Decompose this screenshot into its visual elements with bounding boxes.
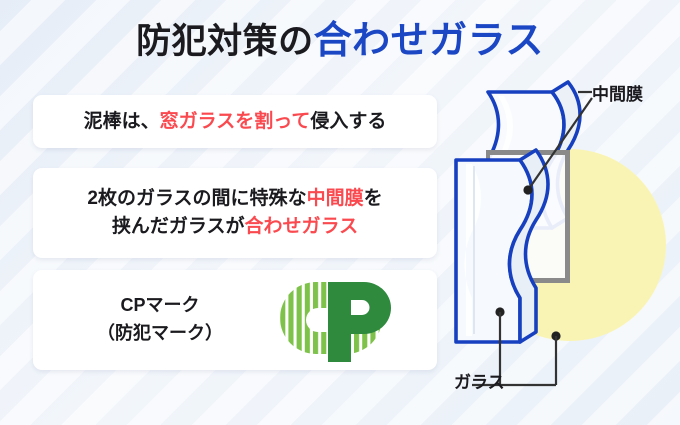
interlayer-leader-dot <box>523 185 532 194</box>
interlayer-label: 中間膜 <box>592 80 643 105</box>
card-2-seg-4: 挟んだガラスが <box>112 216 245 237</box>
glass-label: ガラス <box>454 368 505 393</box>
cp-mark-icon <box>272 278 400 362</box>
card-1-text: 泥棒は、窓ガラスを割って侵入する <box>84 108 387 136</box>
cp-mark-label: CPマーク （防犯マーク） <box>70 292 250 348</box>
cp-mark-card: CPマーク （防犯マーク） <box>33 270 437 370</box>
card-2-line-1: 2枚のガラスの間に特殊な中間膜を <box>87 185 382 213</box>
laminated-glass-cross-section: 中間膜 ガラス <box>440 60 680 410</box>
card-2-seg-3: を <box>364 188 383 209</box>
card-2-text: 2枚のガラスの間に特殊な中間膜を 挟んだガラスが合わせガラス <box>87 185 382 240</box>
card-1-seg-1: 泥棒は、 <box>84 111 160 132</box>
cp-mark-label-line-2: （防犯マーク） <box>70 320 250 348</box>
burglar-statement-card: 泥棒は、窓ガラスを割って侵入する <box>33 95 437 148</box>
card-2-line-2: 挟んだガラスが合わせガラス <box>87 213 382 241</box>
interlayer-right-band <box>565 150 570 282</box>
cp-mark-label-line-1: CPマーク <box>70 292 250 320</box>
page-title-blue-part: 合わせガラス <box>314 20 544 62</box>
cp-mark-card-inner: CPマーク （防犯マーク） <box>33 278 437 362</box>
card-2-seg-2: 中間膜 <box>307 188 364 209</box>
laminated-glass-definition-card: 2枚のガラスの間に特殊な中間膜を 挟んだガラスが合わせガラス <box>33 168 437 258</box>
card-2-seg-1: 2枚のガラスの間に特殊な <box>87 188 306 209</box>
card-2-seg-5: 合わせガラス <box>244 216 358 237</box>
page-title: 防犯対策の合わせガラス <box>0 21 680 63</box>
card-1-seg-3: 侵入する <box>310 111 386 132</box>
card-1-seg-2: 窓ガラスを割って <box>160 111 311 132</box>
page-title-dark-part: 防犯対策の <box>136 22 314 61</box>
